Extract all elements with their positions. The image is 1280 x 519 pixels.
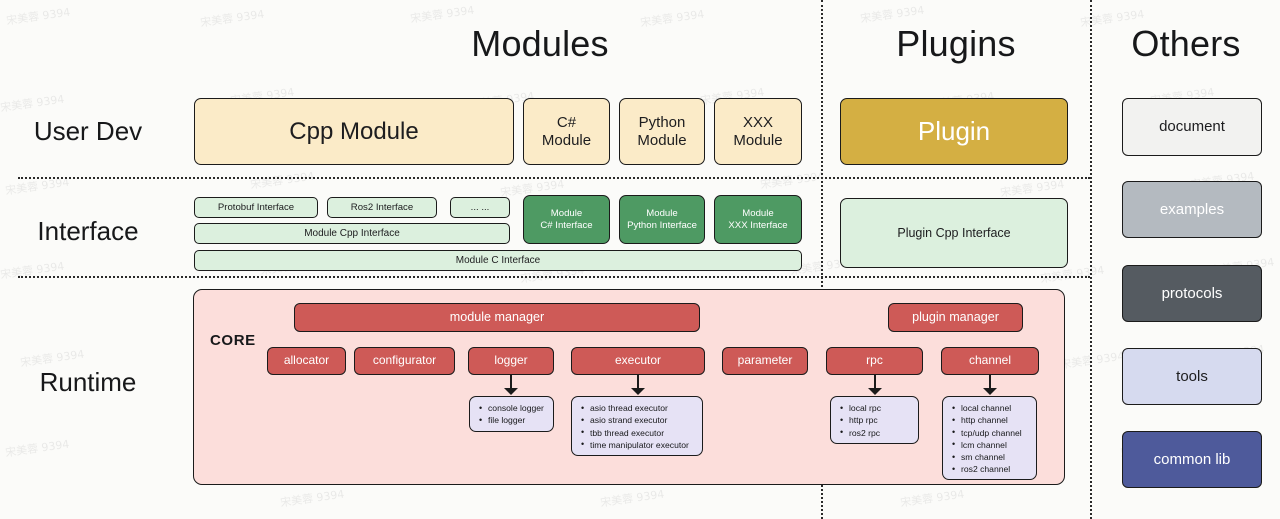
interface-more-interface[interactable]: ... ... <box>450 197 510 218</box>
arrow-logger <box>504 375 518 395</box>
watermark: 宋美蓉 9394 <box>0 91 65 116</box>
list-item: console logger <box>488 402 546 414</box>
list-item: sm channel <box>961 451 1029 463</box>
arrow-executor <box>631 375 645 395</box>
user-module-cpp-module[interactable]: Cpp Module <box>194 98 514 165</box>
core-details-executor: asio thread executor asio strand executo… <box>571 396 703 456</box>
others-item-tools[interactable]: tools <box>1122 348 1262 405</box>
divider-userdev-interface <box>18 177 1090 179</box>
interface-module-csharp-interface[interactable]: Module C# Interface <box>523 195 610 244</box>
interface-module-cpp-interface[interactable]: Module Cpp Interface <box>194 223 510 244</box>
others-item-document[interactable]: document <box>1122 98 1262 156</box>
core-component-parameter[interactable]: parameter <box>722 347 808 375</box>
core-details-channel: local channel http channel tcp/udp chann… <box>942 396 1037 480</box>
core-plugin-manager[interactable]: plugin manager <box>888 303 1023 332</box>
user-module-csharp-module[interactable]: C# Module <box>523 98 610 165</box>
core-component-executor[interactable]: executor <box>571 347 705 375</box>
list-item: tbb thread executor <box>590 427 695 439</box>
watermark: 宋美蓉 9394 <box>4 436 70 461</box>
list-item: file logger <box>488 414 546 426</box>
interface-module-c-interface[interactable]: Module C Interface <box>194 250 802 271</box>
list-item: time manipulator executor <box>590 439 695 451</box>
core-component-rpc[interactable]: rpc <box>826 347 923 375</box>
diagram-canvas: 宋美蓉 9394 宋美蓉 9394 宋美蓉 9394 宋美蓉 9394 宋美蓉 … <box>0 0 1280 519</box>
list-item: asio strand executor <box>590 414 695 426</box>
watermark: 宋美蓉 9394 <box>599 486 665 511</box>
interface-plugin-cpp-interface[interactable]: Plugin Cpp Interface <box>840 198 1068 268</box>
user-plugin[interactable]: Plugin <box>840 98 1068 165</box>
watermark: 宋美蓉 9394 <box>0 258 65 283</box>
list-item: ros2 channel <box>961 463 1029 475</box>
watermark: 宋美蓉 9394 <box>1059 348 1125 373</box>
interface-protobuf-interface[interactable]: Protobuf Interface <box>194 197 318 218</box>
others-item-examples[interactable]: examples <box>1122 181 1262 238</box>
list-item: local rpc <box>849 402 911 414</box>
arrow-rpc <box>868 375 882 395</box>
list-item: local channel <box>961 402 1029 414</box>
core-module-manager[interactable]: module manager <box>294 303 700 332</box>
core-component-logger[interactable]: logger <box>468 347 554 375</box>
column-header-plugins: Plugins <box>822 26 1090 62</box>
core-label: CORE <box>210 332 256 349</box>
column-header-modules: Modules <box>330 26 750 62</box>
column-header-others: Others <box>1092 26 1280 62</box>
interface-ros2-interface[interactable]: Ros2 Interface <box>327 197 437 218</box>
interface-module-python-interface[interactable]: Module Python Interface <box>619 195 705 244</box>
row-label-user-dev: User Dev <box>0 118 176 144</box>
row-label-interface: Interface <box>0 218 176 244</box>
watermark: 宋美蓉 9394 <box>5 4 71 29</box>
core-details-rpc: local rpc http rpc ros2 rpc <box>830 396 919 444</box>
list-item: http rpc <box>849 414 911 426</box>
user-module-python-module[interactable]: Python Module <box>619 98 705 165</box>
watermark: 宋美蓉 9394 <box>759 168 825 193</box>
watermark: 宋美蓉 9394 <box>199 6 265 31</box>
others-item-common-lib[interactable]: common lib <box>1122 431 1262 488</box>
watermark: 宋美蓉 9394 <box>249 168 315 193</box>
core-details-logger: console logger file logger <box>469 396 554 432</box>
list-item: http channel <box>961 414 1029 426</box>
arrow-channel <box>983 375 997 395</box>
list-item: tcp/udp channel <box>961 427 1029 439</box>
watermark: 宋美蓉 9394 <box>999 176 1065 201</box>
core-component-allocator[interactable]: allocator <box>267 347 346 375</box>
watermark: 宋美蓉 9394 <box>899 486 965 511</box>
row-label-runtime: Runtime <box>0 369 176 395</box>
user-module-xxx-module[interactable]: XXX Module <box>714 98 802 165</box>
watermark: 宋美蓉 9394 <box>279 486 345 511</box>
list-item: lcm channel <box>961 439 1029 451</box>
watermark: 宋美蓉 9394 <box>409 2 475 27</box>
divider-interface-runtime <box>18 276 1090 278</box>
core-component-configurator[interactable]: configurator <box>354 347 455 375</box>
list-item: ros2 rpc <box>849 427 911 439</box>
divider-plugins-others <box>1090 0 1092 519</box>
interface-module-xxx-interface[interactable]: Module XXX Interface <box>714 195 802 244</box>
core-component-channel[interactable]: channel <box>941 347 1039 375</box>
list-item: asio thread executor <box>590 402 695 414</box>
others-item-protocols[interactable]: protocols <box>1122 265 1262 322</box>
